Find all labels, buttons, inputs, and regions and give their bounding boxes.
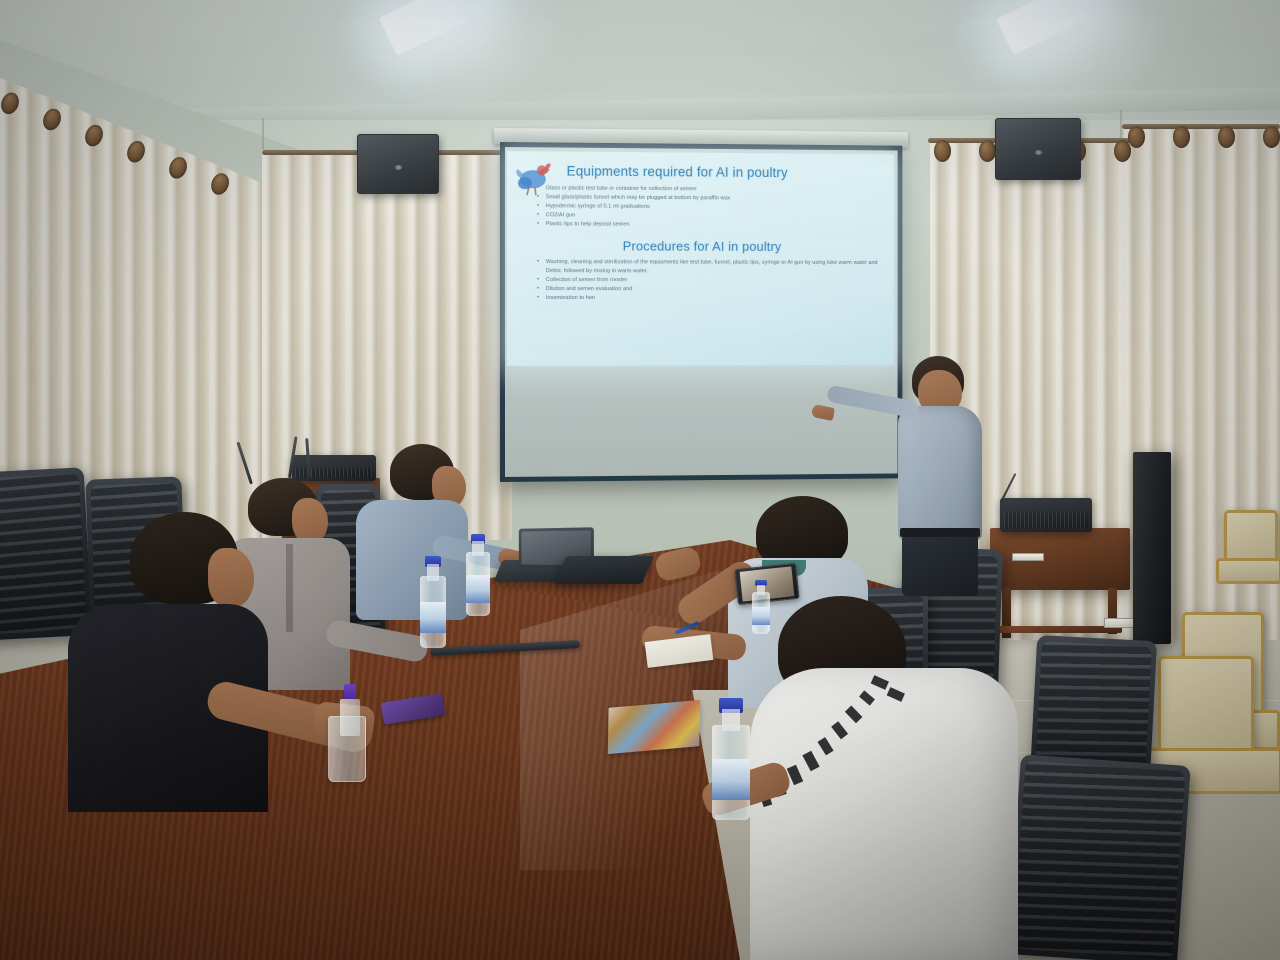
hand-sanitizer-spray[interactable] xyxy=(340,684,360,736)
wall-speaker-right xyxy=(995,118,1081,180)
slide-procedures-list: Washing, cleaning and sterilization of t… xyxy=(537,258,882,303)
water-bottle-4[interactable] xyxy=(752,580,770,634)
projector-screen-border: Equipments required for AI in poultry Gl… xyxy=(500,142,902,482)
water-bottle-2[interactable] xyxy=(466,534,490,616)
grommet xyxy=(1218,126,1235,148)
slide-bullet: Plastic tips to help deposit semen xyxy=(537,220,882,231)
printed-leaflet[interactable] xyxy=(608,700,700,754)
projector-screen-surface: Equipments required for AI in poultry Gl… xyxy=(505,147,898,477)
water-bottle-1[interactable] xyxy=(420,556,446,648)
slide-equipment-list: Glass or plastic test tube or container … xyxy=(537,184,882,231)
grommet xyxy=(1263,126,1280,148)
stacked-chair-far-right[interactable] xyxy=(1216,510,1280,620)
projector-screen: Equipments required for AI in poultry Gl… xyxy=(500,138,910,486)
attendee-black-tshirt xyxy=(58,512,358,812)
grommet xyxy=(934,140,951,162)
projected-slide: Equipments required for AI in poultry Gl… xyxy=(507,151,894,366)
slide-subtitle: Procedures for AI in poultry xyxy=(519,238,882,254)
equipment-label xyxy=(1104,618,1136,628)
attendee-face xyxy=(208,548,254,608)
slide-title: Equipments required for AI in poultry xyxy=(567,164,883,181)
grommet xyxy=(1173,126,1190,148)
attendee-white-patterned-tshirt xyxy=(744,596,1044,960)
presenter-shirt xyxy=(898,406,982,540)
water-bottle-3[interactable] xyxy=(712,698,750,820)
grommet xyxy=(979,140,996,162)
grommet xyxy=(0,90,22,117)
curtain-grommets-right-outer xyxy=(1128,126,1280,148)
slide-procedure-bullet: Dilution and semen evaluation and xyxy=(537,285,882,294)
slide-procedure-bullet: Collection of semen from rooster xyxy=(537,276,882,286)
screen-unlit-area xyxy=(505,358,898,477)
slide-procedure-bullet: Washing, cleaning and sterilization of t… xyxy=(537,258,882,277)
wall-speaker-left xyxy=(357,134,439,194)
presenter-belt xyxy=(900,528,980,537)
slide-procedure-bullet: Insemination to hen xyxy=(537,294,882,303)
conference-room-photo: Equipments required for AI in poultry Gl… xyxy=(0,0,1280,960)
laptop-rear-panel xyxy=(554,556,654,584)
tshirt-pattern xyxy=(754,672,954,822)
presenter-trousers xyxy=(902,534,978,596)
grommet xyxy=(1128,126,1145,148)
